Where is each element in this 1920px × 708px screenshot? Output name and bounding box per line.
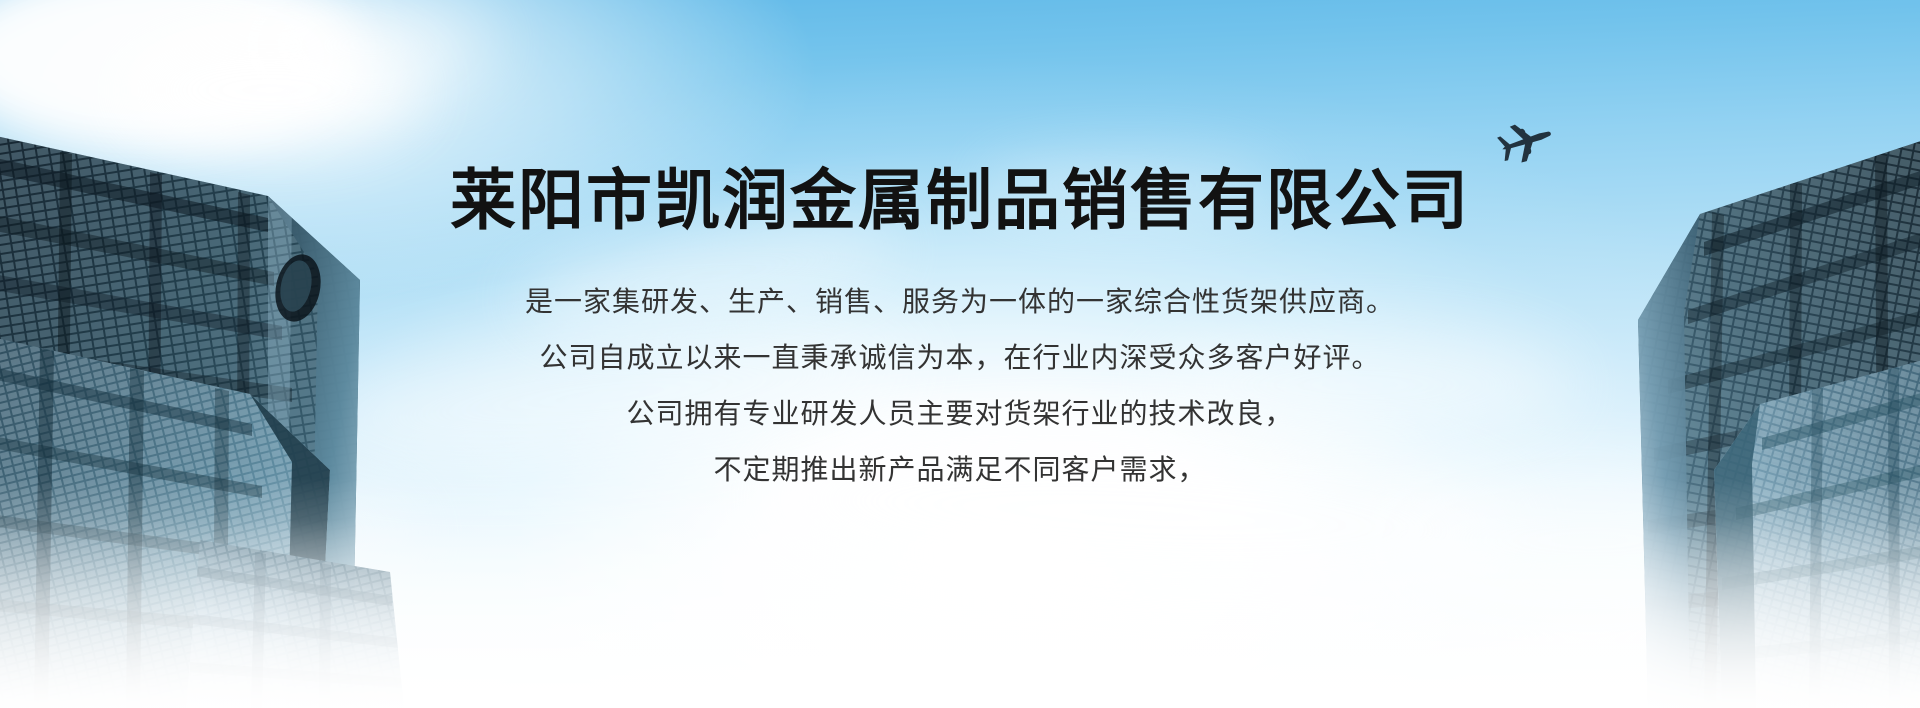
description-line-1: 是一家集研发、生产、销售、服务为一体的一家综合性货架供应商。 (0, 274, 1920, 330)
description-line-4: 不定期推出新产品满足不同客户需求， (0, 442, 1920, 498)
company-description: 是一家集研发、生产、销售、服务为一体的一家综合性货架供应商。 公司自成立以来一直… (0, 274, 1920, 498)
description-line-2: 公司自成立以来一直秉承诚信为本，在行业内深受众多客户好评。 (0, 330, 1920, 386)
hero-banner: 莱阳市凯润金属制品销售有限公司 是一家集研发、生产、销售、服务为一体的一家综合性… (0, 0, 1920, 708)
description-line-3: 公司拥有专业研发人员主要对货架行业的技术改良， (0, 386, 1920, 442)
banner-content: 莱阳市凯润金属制品销售有限公司 是一家集研发、生产、销售、服务为一体的一家综合性… (0, 0, 1920, 498)
company-title: 莱阳市凯润金属制品销售有限公司 (0, 0, 1920, 240)
